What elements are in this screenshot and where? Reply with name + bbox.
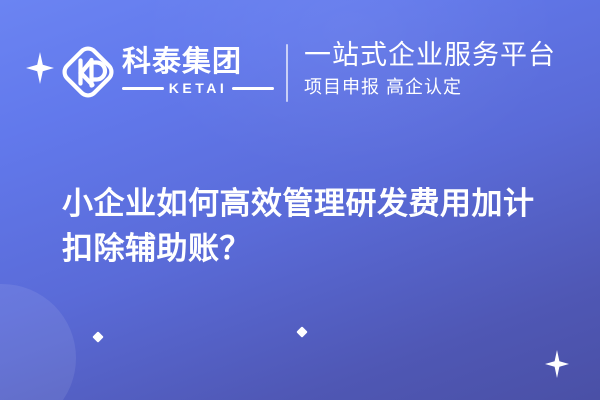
logo-name-en-row: KETAI (122, 81, 274, 96)
logo-rule-left (122, 87, 164, 90)
header-divider (286, 44, 288, 102)
tagline-block: 一站式企业服务平台 项目申报 高企认定 (304, 38, 556, 100)
banner-header: 科泰集团 KETAI 一站式企业服务平台 项目申报 高企认定 (0, 34, 600, 110)
sparkle-icon (26, 52, 54, 84)
tagline-main: 一站式企业服务平台 (304, 38, 556, 72)
sparkle-small-center (296, 326, 307, 337)
logo-wordmark: 科泰集团 KETAI (122, 46, 274, 96)
page-title: 小企业如何高效管理研发费用加计扣除辅助账？ (62, 181, 562, 271)
logo-name-cn: 科泰集团 (122, 46, 274, 78)
logo-rule-right (232, 87, 274, 90)
logo-name-en: KETAI (169, 81, 227, 96)
tagline-sub: 项目申报 高企认定 (304, 74, 556, 100)
sparkle-large-right (545, 350, 569, 378)
kp-diamond-logo-icon (58, 42, 118, 102)
promo-banner: 科泰集团 KETAI 一站式企业服务平台 项目申报 高企认定 小企业如何高效管理… (0, 0, 600, 400)
sparkle-small-left (92, 331, 103, 342)
background-circle-left (0, 284, 76, 400)
